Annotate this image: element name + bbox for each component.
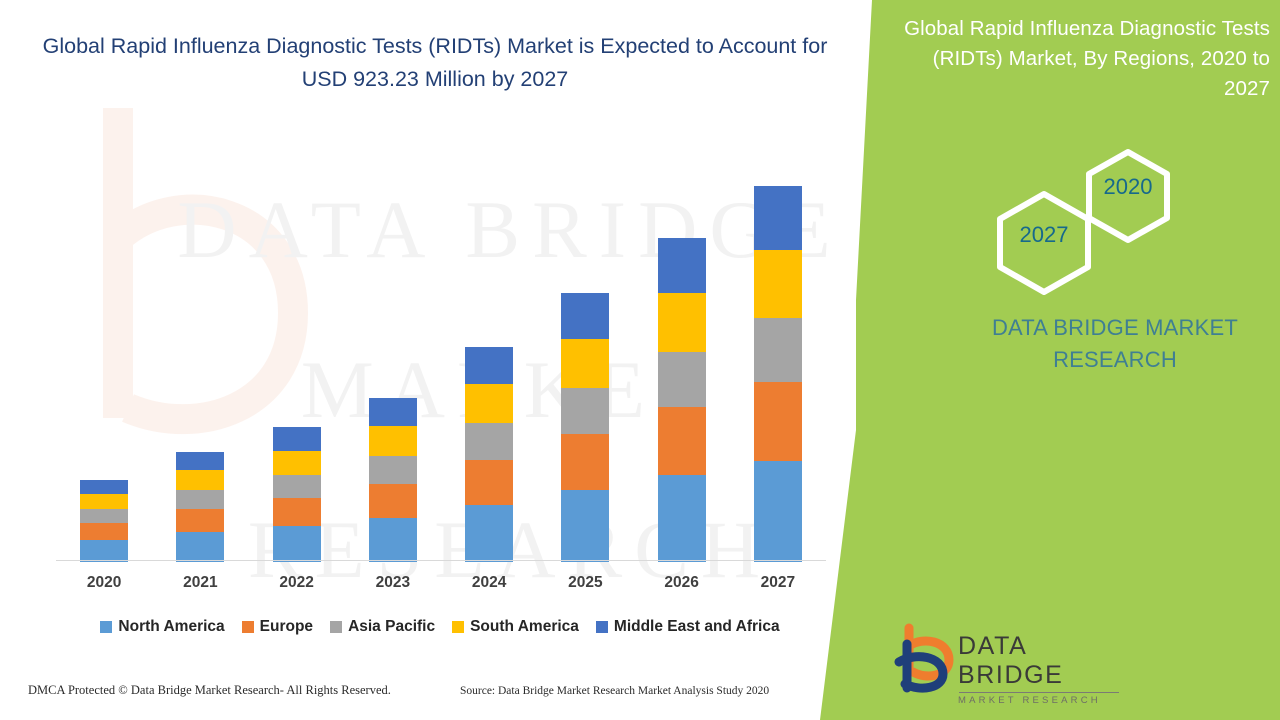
legend-item: North America	[100, 618, 224, 636]
bar-2022	[273, 427, 321, 562]
bar-2020	[80, 480, 128, 562]
legend-swatch	[100, 621, 112, 633]
legend-label: Middle East and Africa	[614, 618, 780, 636]
legend-swatch	[330, 621, 342, 633]
bar-segment	[273, 498, 321, 526]
logo-subtitle: MARKET RESEARCH	[958, 695, 1119, 706]
x-axis-label-2021: 2021	[152, 574, 248, 592]
bar-segment	[369, 484, 417, 518]
data-bridge-logo: DATA BRIDGE MARKET RESEARCH	[893, 622, 1113, 694]
bar-segment	[465, 505, 513, 562]
logo-name: DATA BRIDGE	[958, 632, 1119, 690]
hexagon-2020: 2020	[1085, 148, 1171, 244]
legend-item: Asia Pacific	[330, 618, 435, 636]
infographic-page: DATA BRIDGE MARKET RESEARCH Global Rapid…	[0, 0, 1280, 720]
hexagon-2027: 2027	[996, 190, 1092, 296]
bar-segment	[465, 460, 513, 505]
bar-segment	[561, 293, 609, 339]
chart-legend: North AmericaEuropeAsia PacificSouth Ame…	[50, 618, 830, 636]
bar-segment	[80, 480, 128, 494]
bar-2025	[561, 293, 609, 562]
bar-segment	[658, 475, 706, 562]
logo-mark-icon	[893, 622, 965, 694]
bar-segment	[658, 407, 706, 475]
bar-segment	[465, 423, 513, 460]
bar-segment	[754, 250, 802, 318]
legend-label: North America	[118, 618, 224, 636]
bar-segment	[658, 238, 706, 293]
bar-chart-plot	[56, 150, 826, 562]
bar-segment	[369, 518, 417, 562]
bar-segment	[176, 490, 224, 509]
bar-segment	[273, 475, 321, 498]
bar-segment	[80, 540, 128, 562]
x-axis-label-2023: 2023	[345, 574, 441, 592]
bar-segment	[80, 523, 128, 540]
logo-wordmark: DATA BRIDGE MARKET RESEARCH	[958, 632, 1119, 706]
legend-swatch	[596, 621, 608, 633]
bar-2026	[658, 238, 706, 562]
bar-2027	[754, 186, 802, 562]
bar-segment	[561, 434, 609, 490]
bar-segment	[465, 347, 513, 384]
footer-source-note: Source: Data Bridge Market Research Mark…	[460, 685, 769, 697]
bar-segment	[658, 352, 706, 407]
x-axis-label-2020: 2020	[56, 574, 152, 592]
hexagon-2020-label: 2020	[1085, 174, 1171, 200]
x-axis-label-2027: 2027	[730, 574, 826, 592]
bar-segment	[176, 470, 224, 490]
bar-2023	[369, 398, 417, 562]
legend-label: Asia Pacific	[348, 618, 435, 636]
legend-swatch	[452, 621, 464, 633]
logo-divider	[959, 692, 1119, 693]
bar-segment	[754, 186, 802, 250]
bar-segment	[465, 384, 513, 423]
bar-segment	[754, 318, 802, 382]
bar-2024	[465, 347, 513, 562]
legend-label: Europe	[260, 618, 313, 636]
bar-segment	[561, 388, 609, 434]
footer-dmca-notice: DMCA Protected © Data Bridge Market Rese…	[28, 683, 391, 698]
legend-item: South America	[452, 618, 579, 636]
bar-segment	[369, 398, 417, 426]
bar-segment	[369, 426, 417, 456]
legend-item: Europe	[242, 618, 313, 636]
bar-segment	[754, 382, 802, 461]
legend-label: South America	[470, 618, 579, 636]
x-axis-label-2024: 2024	[441, 574, 537, 592]
bar-segment	[369, 456, 417, 484]
hexagon-2027-label: 2027	[996, 222, 1092, 248]
bar-segment	[80, 494, 128, 509]
bar-segment	[658, 293, 706, 352]
bar-segment	[754, 461, 802, 562]
x-axis-label-2026: 2026	[634, 574, 730, 592]
x-axis-line	[56, 560, 826, 561]
legend-swatch	[242, 621, 254, 633]
brand-name-text: DATA BRIDGE MARKET RESEARCH	[950, 312, 1280, 376]
bar-2021	[176, 452, 224, 562]
panel-title: Global Rapid Influenza Diagnostic Tests …	[884, 14, 1270, 104]
bar-segment	[80, 509, 128, 523]
page-title: Global Rapid Influenza Diagnostic Tests …	[40, 30, 830, 96]
bar-segment	[273, 451, 321, 475]
bar-segment	[561, 339, 609, 388]
bar-segment	[176, 452, 224, 470]
bar-segment	[176, 532, 224, 562]
x-axis-label-2022: 2022	[249, 574, 345, 592]
bar-segment	[273, 526, 321, 562]
bar-segment	[176, 509, 224, 532]
legend-item: Middle East and Africa	[596, 618, 780, 636]
bar-segment	[561, 490, 609, 562]
bar-segment	[273, 427, 321, 451]
x-axis-label-2025: 2025	[537, 574, 633, 592]
